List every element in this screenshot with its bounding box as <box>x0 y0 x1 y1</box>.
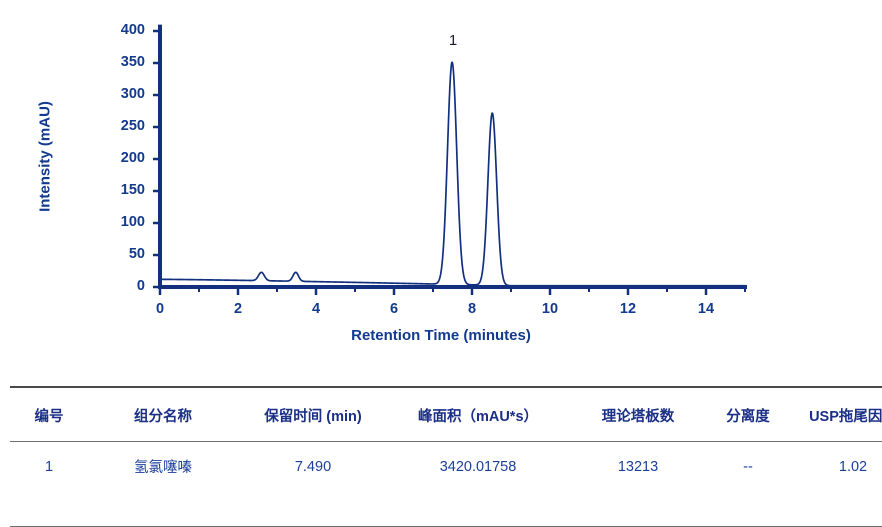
ytick-label-150: 150 <box>105 182 145 198</box>
cell-component-name: 氢氯噻嗪 <box>88 442 238 491</box>
peak-results-table: 编号 组分名称 保留时间 (min) 峰面积（mAU*s） 理论塔板数 分离度 … <box>10 386 882 527</box>
ytick-label-50: 50 <box>105 246 145 262</box>
chromatogram-chart: 400 350 300 250 200 150 100 50 0 0 2 4 6… <box>0 0 882 380</box>
results-table-container: 编号 组分名称 保留时间 (min) 峰面积（mAU*s） 理论塔板数 分离度 … <box>0 386 882 527</box>
cell-usp-tailing: 1.02 <box>788 442 882 491</box>
cell-theoretical-plates: 13213 <box>568 442 708 491</box>
xtick-label-6: 6 <box>379 301 409 317</box>
plot-axes <box>153 25 747 295</box>
xtick-label-2: 2 <box>223 301 253 317</box>
ytick-label-300: 300 <box>105 86 145 102</box>
column-header-peak-area: 峰面积（mAU*s） <box>388 387 568 442</box>
column-header-theoretical-plates: 理论塔板数 <box>568 387 708 442</box>
column-header-no: 编号 <box>10 387 88 442</box>
column-header-component-name: 组分名称 <box>88 387 238 442</box>
y-axis-title: Intensity (mAU) <box>37 57 54 257</box>
ytick-label-250: 250 <box>105 118 145 134</box>
ytick-label-0: 0 <box>105 278 145 294</box>
xtick-label-8: 8 <box>457 301 487 317</box>
xtick-label-14: 14 <box>691 301 721 317</box>
ytick-label-400: 400 <box>105 22 145 38</box>
cell-no: 1 <box>10 442 88 491</box>
cell-resolution: -- <box>708 442 788 491</box>
xtick-label-4: 4 <box>301 301 331 317</box>
xtick-label-10: 10 <box>535 301 565 317</box>
ytick-label-100: 100 <box>105 214 145 230</box>
xtick-label-12: 12 <box>613 301 643 317</box>
column-header-retention-time: 保留时间 (min) <box>238 387 388 442</box>
ytick-label-200: 200 <box>105 150 145 166</box>
x-axis-title: Retention Time (minutes) <box>0 327 882 344</box>
cell-retention-time: 7.490 <box>238 442 388 491</box>
xtick-label-0: 0 <box>145 301 175 317</box>
table-header-row: 编号 组分名称 保留时间 (min) 峰面积（mAU*s） 理论塔板数 分离度 … <box>10 387 882 442</box>
ytick-label-350: 350 <box>105 54 145 70</box>
uv-trace-line <box>160 62 745 285</box>
peak-label-1: 1 <box>444 32 462 49</box>
table-row[interactable]: 1 氢氯噻嗪 7.490 3420.01758 13213 -- 1.02 <box>10 442 882 491</box>
column-header-usp-tailing: USP拖尾因子 <box>788 387 882 442</box>
table-bottom-rule <box>10 490 882 527</box>
column-header-resolution: 分离度 <box>708 387 788 442</box>
cell-peak-area: 3420.01758 <box>388 442 568 491</box>
